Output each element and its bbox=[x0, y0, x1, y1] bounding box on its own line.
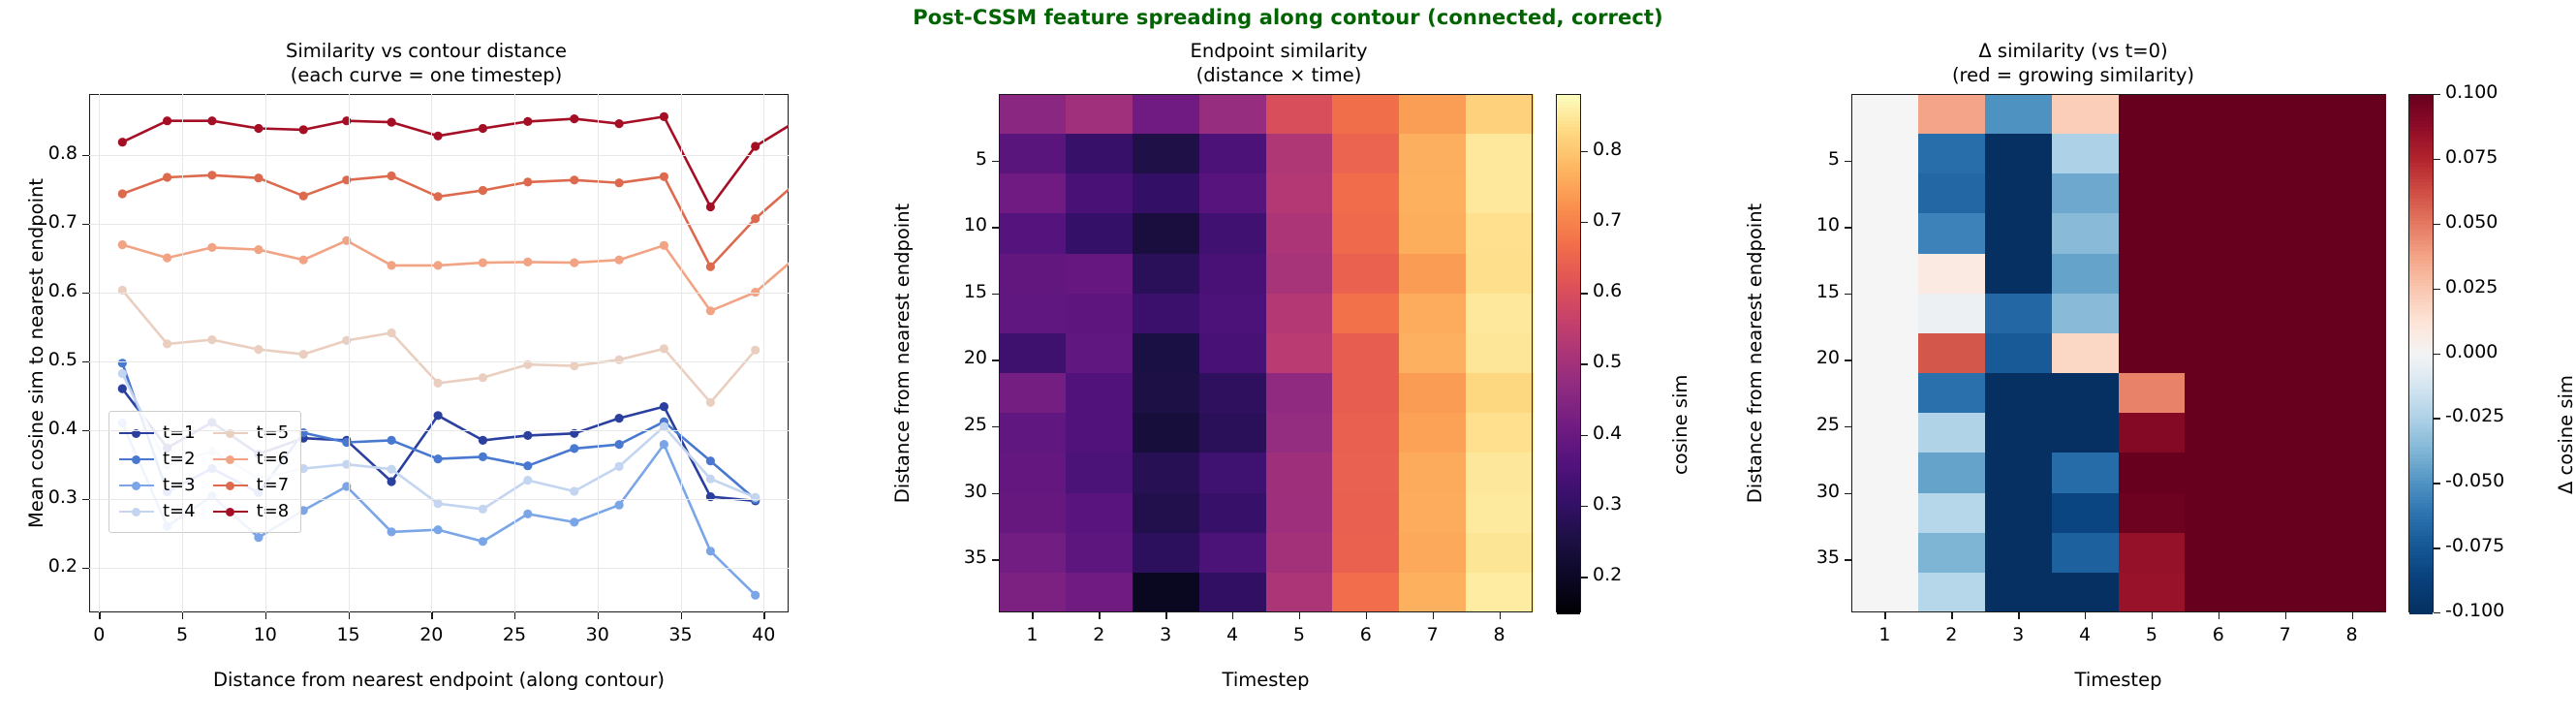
line-marker bbox=[388, 172, 396, 180]
line-marker bbox=[479, 436, 487, 445]
line-marker bbox=[570, 259, 578, 267]
line-marker bbox=[163, 339, 171, 348]
heatmap-xtick-label: 8 bbox=[2323, 624, 2381, 645]
legend-item-t7[interactable]: t=7 bbox=[213, 473, 290, 497]
heatmap-ytick bbox=[992, 359, 999, 360]
panel-left-xtick bbox=[598, 612, 599, 619]
line-marker bbox=[207, 116, 216, 125]
panel-left-ytick-label: 0.5 bbox=[12, 349, 78, 370]
line-marker bbox=[118, 286, 127, 295]
colorbar-tick bbox=[2434, 483, 2440, 484]
colorbar-tick bbox=[1581, 506, 1588, 507]
panel-left-ytick-label: 0.2 bbox=[12, 555, 78, 577]
heatmap-ytick bbox=[992, 294, 999, 295]
heatmap-ytick bbox=[992, 493, 999, 494]
heatmap-xtick bbox=[1884, 612, 1885, 619]
panel-left-xtick bbox=[431, 612, 432, 619]
heatmap-ytick-label: 5 bbox=[1774, 148, 1840, 170]
panel-mid-title-line1: Endpoint similarity bbox=[853, 39, 1705, 63]
legend-swatch-icon bbox=[213, 426, 248, 439]
line-marker bbox=[706, 263, 715, 271]
heatmap-xtick-label: 7 bbox=[1404, 624, 1462, 645]
heatmap-xtick-label: 3 bbox=[1989, 624, 2047, 645]
line-marker bbox=[660, 112, 668, 121]
colorbar-tick-label: 0.5 bbox=[1593, 351, 1622, 372]
line-marker bbox=[118, 240, 127, 249]
line-marker bbox=[254, 173, 263, 182]
heatmap-ytick-label: 20 bbox=[921, 347, 987, 368]
line-marker bbox=[342, 438, 351, 447]
heatmap-ytick-label: 35 bbox=[1774, 547, 1840, 568]
colorbar-tick bbox=[2434, 547, 2440, 548]
line-marker bbox=[434, 411, 443, 420]
legend-item-t8[interactable]: t=8 bbox=[213, 499, 290, 523]
panel-mid-title-line2: (distance × time) bbox=[853, 63, 1705, 87]
heatmap-ytick-label: 15 bbox=[1774, 281, 1840, 302]
line-marker bbox=[299, 350, 308, 359]
line-marker bbox=[479, 453, 487, 461]
legend-swatch-icon bbox=[119, 479, 154, 491]
panel-left-gridline-v bbox=[431, 94, 432, 612]
line-marker bbox=[751, 141, 760, 150]
panel-left-xtick bbox=[514, 612, 515, 619]
heatmap-xtick-label: 1 bbox=[1855, 624, 1913, 645]
line-marker bbox=[163, 172, 171, 181]
panel-left-xtick-label: 25 bbox=[485, 624, 543, 645]
line-marker bbox=[615, 414, 624, 422]
line-marker bbox=[660, 440, 668, 449]
panel-left-gridline-h bbox=[89, 293, 789, 294]
line-marker bbox=[523, 431, 532, 440]
colorbar-tick bbox=[1581, 435, 1588, 436]
panel-left-gridline-h bbox=[89, 155, 789, 156]
panel-left-xtick bbox=[681, 612, 682, 619]
line-marker bbox=[479, 373, 487, 382]
line-marker bbox=[615, 356, 624, 364]
colorbar-tick bbox=[1581, 151, 1588, 152]
panel-left-xtick bbox=[265, 612, 266, 619]
heatmap-ytick bbox=[1845, 359, 1851, 360]
panel-left-gridline-v bbox=[99, 94, 100, 612]
line-marker bbox=[523, 476, 532, 485]
heatmap-ytick-label: 10 bbox=[1774, 214, 1840, 235]
panel-right-colorbar-label: Δ cosine sim bbox=[2555, 375, 2576, 494]
panel-right-title-line1: Δ similarity (vs t=0) bbox=[1705, 39, 2441, 63]
colorbar-tick-label: 0.075 bbox=[2445, 146, 2498, 168]
panel-left-xtick-label: 40 bbox=[734, 624, 792, 645]
heatmap-xtick-label: 1 bbox=[1003, 624, 1061, 645]
line-series-t6 bbox=[122, 240, 800, 310]
heatmap-xtick bbox=[1032, 612, 1033, 619]
heatmap-xtick-label: 6 bbox=[1337, 624, 1395, 645]
line-marker bbox=[706, 203, 715, 211]
panel-left-ytick bbox=[82, 155, 89, 156]
panel-left-xtick bbox=[763, 612, 764, 619]
panel-right-colorbar bbox=[2408, 94, 2434, 612]
panel-right-xlabel: Timestep bbox=[1851, 669, 2385, 691]
panel-left-gridline-v bbox=[265, 94, 266, 612]
legend-label: t=1 bbox=[163, 422, 196, 443]
line-marker bbox=[751, 493, 760, 502]
line-marker bbox=[254, 533, 263, 542]
line-marker bbox=[299, 192, 308, 201]
line-marker bbox=[207, 171, 216, 179]
legend-label: t=4 bbox=[163, 501, 196, 521]
legend-swatch-icon bbox=[213, 479, 248, 491]
legend-label: t=8 bbox=[257, 501, 290, 521]
colorbar-tick bbox=[1581, 222, 1588, 223]
panel-left-ytick bbox=[82, 499, 89, 500]
panel-left-xtick-label: 20 bbox=[402, 624, 460, 645]
colorbar-tick bbox=[1581, 293, 1588, 294]
heatmap-ytick-label: 30 bbox=[921, 481, 987, 502]
panel-right-ylabel: Distance from nearest endpoint bbox=[1744, 94, 1766, 612]
panel-left-gridline-v bbox=[182, 94, 183, 612]
heatmap-ytick-label: 25 bbox=[921, 414, 987, 435]
legend-swatch-icon bbox=[119, 453, 154, 465]
heatmap-ytick bbox=[992, 227, 999, 228]
line-marker bbox=[342, 336, 351, 345]
line-marker bbox=[163, 116, 171, 125]
panel-left-ytick bbox=[82, 430, 89, 431]
line-marker bbox=[570, 517, 578, 526]
heatmap-ytick-label: 35 bbox=[921, 547, 987, 568]
legend-label: t=6 bbox=[257, 449, 290, 469]
line-marker bbox=[434, 454, 443, 463]
line-marker bbox=[523, 117, 532, 126]
colorbar-segment bbox=[2409, 610, 2433, 614]
legend-label: t=3 bbox=[163, 475, 196, 495]
line-marker bbox=[434, 261, 443, 269]
line-marker bbox=[795, 114, 804, 123]
line-marker bbox=[660, 344, 668, 353]
line-marker bbox=[434, 192, 443, 201]
line-marker bbox=[706, 398, 715, 407]
legend-label: t=5 bbox=[257, 422, 290, 443]
heatmap-ytick-label: 5 bbox=[921, 148, 987, 170]
line-marker bbox=[163, 254, 171, 263]
heatmap-xtick-label: 5 bbox=[1270, 624, 1328, 645]
line-marker bbox=[523, 177, 532, 186]
colorbar-tick bbox=[2434, 354, 2440, 355]
colorbar-tick-label: -0.025 bbox=[2445, 405, 2504, 426]
line-marker bbox=[615, 119, 624, 128]
line-marker bbox=[434, 499, 443, 508]
line-marker bbox=[660, 402, 668, 411]
panel-mid-xlabel: Timestep bbox=[999, 669, 1533, 691]
heatmap-xtick bbox=[2152, 612, 2153, 619]
heatmap-xtick-label: 6 bbox=[2189, 624, 2248, 645]
line-marker bbox=[660, 172, 668, 181]
panel-left-gridline-v bbox=[763, 94, 764, 612]
panel-similarity-vs-distance: Similarity vs contour distance (each cur… bbox=[0, 0, 853, 719]
line-marker bbox=[795, 249, 804, 258]
line-marker bbox=[751, 346, 760, 355]
line-marker bbox=[118, 138, 127, 146]
heatmap-ytick-label: 10 bbox=[921, 214, 987, 235]
legend-label: t=2 bbox=[163, 449, 196, 469]
panel-left-gridline-v bbox=[514, 94, 515, 612]
line-marker bbox=[523, 510, 532, 518]
heatmap-xtick bbox=[2018, 612, 2019, 619]
line-marker bbox=[299, 256, 308, 265]
line-marker bbox=[479, 537, 487, 546]
line-marker bbox=[479, 505, 487, 514]
colorbar-tick-label: 0.8 bbox=[1593, 139, 1622, 160]
heatmap-ytick bbox=[1845, 227, 1851, 228]
panel-left-ytick bbox=[82, 224, 89, 225]
legend-item-t3[interactable]: t=3 bbox=[119, 473, 196, 497]
heatmap-xtick bbox=[1951, 612, 1952, 619]
line-marker bbox=[570, 444, 578, 453]
heatmap-xtick-label: 7 bbox=[2256, 624, 2314, 645]
heatmap-ytick bbox=[992, 426, 999, 427]
colorbar-tick-label: 0.050 bbox=[2445, 211, 2498, 233]
line-marker bbox=[388, 527, 396, 536]
line-marker bbox=[342, 116, 351, 125]
panel-left-ytick bbox=[82, 361, 89, 362]
legend-swatch-icon bbox=[119, 426, 154, 439]
line-marker bbox=[615, 256, 624, 265]
legend-swatch-icon bbox=[213, 505, 248, 517]
colorbar-tick bbox=[2434, 289, 2440, 290]
line-marker bbox=[479, 186, 487, 195]
line-marker bbox=[615, 462, 624, 471]
line-marker bbox=[660, 241, 668, 250]
heatmap-xtick-label: 8 bbox=[1471, 624, 1529, 645]
line-marker bbox=[254, 124, 263, 133]
line-marker bbox=[118, 189, 127, 198]
line-marker bbox=[388, 261, 396, 269]
line-marker bbox=[388, 477, 396, 485]
panel-left-xtick-label: 30 bbox=[569, 624, 627, 645]
heatmap-ytick bbox=[992, 559, 999, 560]
heatmap-ytick-label: 20 bbox=[1774, 347, 1840, 368]
panel-left-xtick-label: 5 bbox=[153, 624, 211, 645]
line-marker bbox=[434, 132, 443, 141]
line-marker bbox=[434, 379, 443, 388]
legend-swatch-icon bbox=[213, 453, 248, 465]
panel-left-ytick bbox=[82, 293, 89, 294]
heatmap-xtick bbox=[2219, 612, 2219, 619]
line-marker bbox=[570, 361, 578, 370]
heatmap-ytick bbox=[1845, 559, 1851, 560]
line-marker bbox=[570, 114, 578, 123]
line-marker bbox=[118, 369, 127, 378]
figure-root: Post-CSSM feature spreading along contou… bbox=[0, 0, 2576, 719]
legend-label: t=7 bbox=[257, 475, 290, 495]
panel-left-gridline-h bbox=[89, 361, 789, 362]
panel-left-gridline-h bbox=[89, 499, 789, 500]
colorbar-tick-label: -0.100 bbox=[2445, 600, 2504, 621]
line-marker bbox=[207, 335, 216, 344]
colorbar-tick-label: 0.025 bbox=[2445, 276, 2498, 297]
panel-left-ytick-label: 0.3 bbox=[12, 486, 78, 508]
colorbar-tick bbox=[2434, 224, 2440, 225]
panel-left-ytick-label: 0.8 bbox=[12, 142, 78, 164]
heatmap-ytick bbox=[1845, 161, 1851, 162]
panel-left-xtick-label: 0 bbox=[70, 624, 128, 645]
heatmap-xtick-label: 4 bbox=[1203, 624, 1261, 645]
line-marker bbox=[342, 482, 351, 490]
panel-mid-axes bbox=[999, 94, 1533, 612]
panel-endpoint-similarity: Endpoint similarity (distance × time) Ti… bbox=[853, 0, 1705, 719]
line-marker bbox=[523, 461, 532, 470]
line-marker bbox=[207, 243, 216, 252]
legend-item-t2[interactable]: t=2 bbox=[119, 447, 196, 471]
heatmap-xtick bbox=[2285, 612, 2286, 619]
colorbar-tick-label: -0.075 bbox=[2445, 535, 2504, 556]
panel-left-xtick bbox=[99, 612, 100, 619]
panel-left-gridline-h bbox=[89, 224, 789, 225]
panel-left-gridline-h bbox=[89, 430, 789, 431]
panel-right-axes bbox=[1851, 94, 2385, 612]
line-marker bbox=[342, 236, 351, 245]
line-marker bbox=[706, 492, 715, 501]
colorbar-tick-label: 0.4 bbox=[1593, 422, 1622, 444]
panel-left-xtick-label: 35 bbox=[652, 624, 710, 645]
line-marker bbox=[342, 460, 351, 469]
colorbar-tick-label: -0.050 bbox=[2445, 470, 2504, 491]
heatmap-ytick bbox=[1845, 294, 1851, 295]
colorbar-tick bbox=[1581, 363, 1588, 364]
line-marker bbox=[706, 547, 715, 555]
line-marker bbox=[570, 486, 578, 495]
line-marker bbox=[615, 440, 624, 449]
heatmap-xtick bbox=[1232, 612, 1233, 619]
line-marker bbox=[615, 501, 624, 510]
colorbar-tick bbox=[2434, 612, 2440, 613]
line-marker bbox=[706, 475, 715, 484]
colorbar-tick bbox=[2434, 418, 2440, 419]
panel-left-xtick bbox=[182, 612, 183, 619]
line-marker bbox=[434, 525, 443, 534]
line-marker bbox=[299, 125, 308, 134]
heatmap-xtick-label: 3 bbox=[1136, 624, 1195, 645]
heatmap-xtick-label: 2 bbox=[1922, 624, 1980, 645]
heatmap-xtick bbox=[1500, 612, 1501, 619]
panel-left-xtick bbox=[349, 612, 350, 619]
legend-item-t4[interactable]: t=4 bbox=[119, 499, 196, 523]
legend-swatch-icon bbox=[119, 505, 154, 517]
heatmap-xtick-label: 4 bbox=[2056, 624, 2114, 645]
line-marker bbox=[570, 175, 578, 184]
line-marker bbox=[615, 178, 624, 187]
heatmap-ytick-label: 25 bbox=[1774, 414, 1840, 435]
panel-left-gridline-h bbox=[89, 568, 789, 569]
panel-left-ytick-label: 0.6 bbox=[12, 280, 78, 301]
heatmap-ytick-label: 15 bbox=[921, 281, 987, 302]
panel-mid-colorbar-label: cosine sim bbox=[1669, 375, 1691, 475]
panel-left-series-layer bbox=[0, 0, 853, 719]
heatmap-ytick bbox=[1845, 493, 1851, 494]
panel-left-xtick-label: 15 bbox=[320, 624, 378, 645]
panel-left-ytick-label: 0.7 bbox=[12, 211, 78, 233]
colorbar-tick-label: 0.6 bbox=[1593, 280, 1622, 301]
panel-delta-similarity: Δ similarity (vs t=0) (red = growing sim… bbox=[1705, 0, 2576, 719]
heatmap-xtick bbox=[1165, 612, 1166, 619]
line-marker bbox=[523, 258, 532, 266]
panel-mid-ylabel: Distance from nearest endpoint bbox=[891, 94, 914, 612]
colorbar-tick bbox=[2434, 159, 2440, 160]
panel-left-gridline-v bbox=[598, 94, 599, 612]
heatmap-xtick bbox=[1366, 612, 1367, 619]
colorbar-tick-label: 0.100 bbox=[2445, 81, 2498, 103]
line-marker bbox=[342, 175, 351, 184]
line-marker bbox=[706, 456, 715, 465]
line-marker bbox=[254, 245, 263, 254]
colorbar-tick-label: 0.7 bbox=[1593, 209, 1622, 231]
colorbar-tick bbox=[1581, 577, 1588, 578]
colorbar-tick-label: 0.000 bbox=[2445, 341, 2498, 362]
line-marker bbox=[706, 306, 715, 315]
panel-left-ytick bbox=[82, 568, 89, 569]
heatmap-xtick bbox=[1299, 612, 1300, 619]
line-marker bbox=[388, 118, 396, 127]
heatmap-xtick bbox=[2352, 612, 2353, 619]
colorbar-segment bbox=[1557, 610, 1580, 614]
line-marker bbox=[795, 175, 804, 184]
heatmap-xtick bbox=[2085, 612, 2086, 619]
heatmap-xtick bbox=[1433, 612, 1434, 619]
heatmap-ytick bbox=[992, 161, 999, 162]
panel-right-title-line2: (red = growing similarity) bbox=[1705, 63, 2441, 87]
legend-item-t1[interactable]: t=1 bbox=[119, 421, 196, 445]
panel-left-gridline-v bbox=[349, 94, 350, 612]
heatmap-ytick bbox=[1845, 426, 1851, 427]
line-marker bbox=[388, 328, 396, 337]
line-marker bbox=[118, 385, 127, 393]
line-marker bbox=[118, 359, 127, 367]
line-marker bbox=[254, 345, 263, 354]
panel-left-gridline-v bbox=[681, 94, 682, 612]
heatmap-ytick-label: 30 bbox=[1774, 481, 1840, 502]
line-marker bbox=[388, 465, 396, 474]
colorbar-tick-label: 0.2 bbox=[1593, 564, 1622, 585]
colorbar-tick-label: 0.3 bbox=[1593, 493, 1622, 515]
legend-item-t5[interactable]: t=5 bbox=[213, 421, 290, 445]
colorbar-tick bbox=[2434, 94, 2440, 95]
heatmap-xtick-label: 2 bbox=[1070, 624, 1128, 645]
line-series-t7 bbox=[122, 175, 800, 266]
heatmap-xtick bbox=[1099, 612, 1100, 619]
panel-mid-colorbar bbox=[1556, 94, 1581, 612]
line-marker bbox=[479, 124, 487, 133]
line-marker bbox=[751, 591, 760, 600]
line-marker bbox=[388, 436, 396, 445]
panel-left-ytick-label: 0.4 bbox=[12, 418, 78, 439]
legend-item-t6[interactable]: t=6 bbox=[213, 447, 290, 471]
line-marker bbox=[479, 259, 487, 267]
line-marker bbox=[751, 214, 760, 223]
heatmap-xtick-label: 5 bbox=[2123, 624, 2181, 645]
panel-left-xtick-label: 10 bbox=[236, 624, 295, 645]
